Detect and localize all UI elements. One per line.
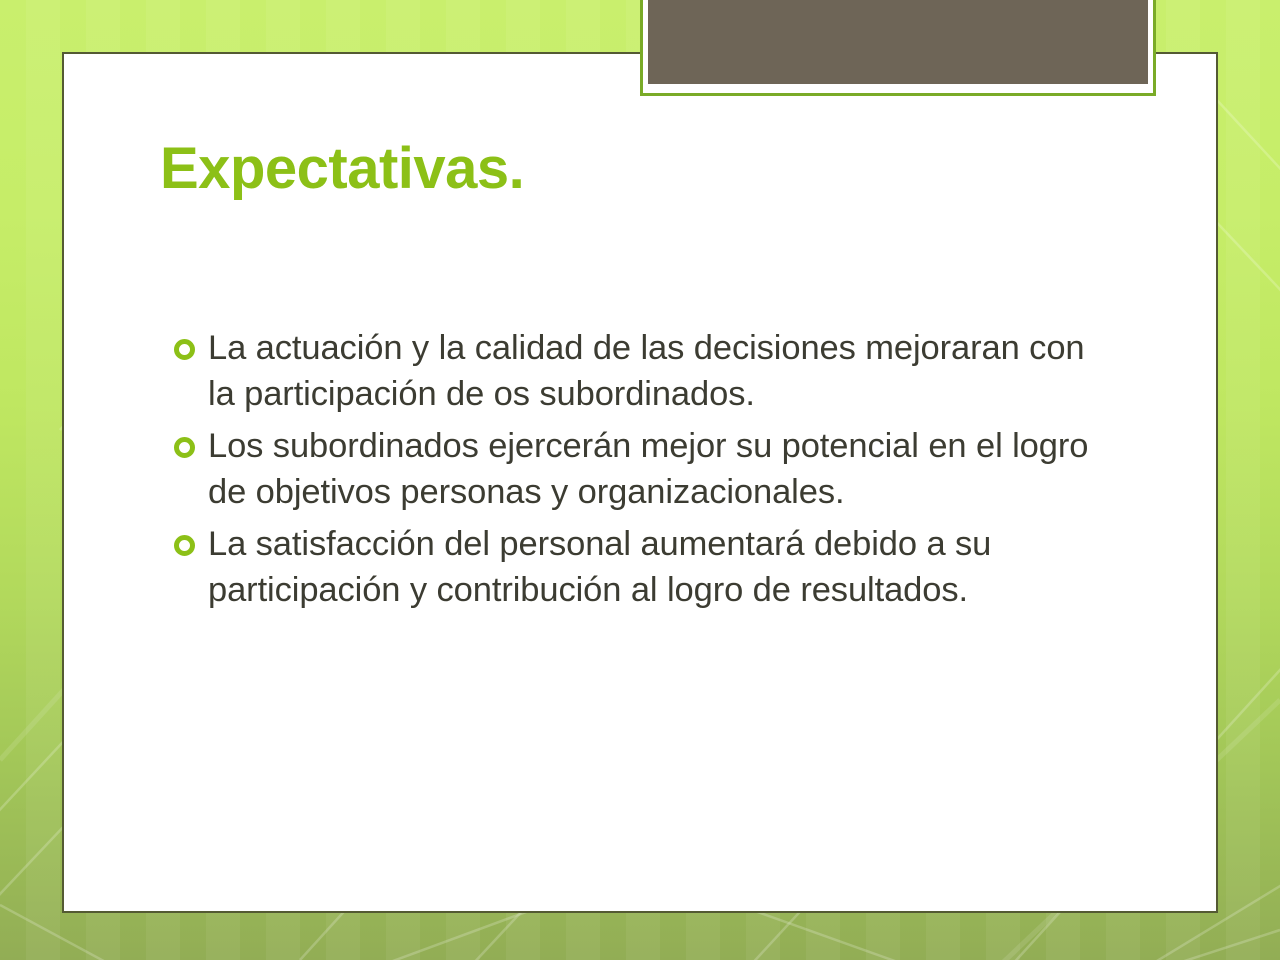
ring-bullet-icon <box>174 339 195 360</box>
brown-header-accent <box>640 0 1156 96</box>
list-item-text: La satisfacción del personal aumentará d… <box>208 521 1100 614</box>
ring-bullet-icon <box>174 437 195 458</box>
list-item-text: Los subordinados ejercerán mejor su pote… <box>208 423 1100 516</box>
list-item-text: La actuación y la calidad de las decisio… <box>208 325 1100 418</box>
slide-title: Expectativas. <box>160 139 524 200</box>
bullet-list: La actuación y la calidad de las decisio… <box>170 325 1100 618</box>
slide-canvas: Expectativas. La actuación y la calidad … <box>0 0 1280 960</box>
list-item: Los subordinados ejercerán mejor su pote… <box>170 423 1100 516</box>
ring-bullet-icon <box>174 535 195 556</box>
list-item: La satisfacción del personal aumentará d… <box>170 521 1100 614</box>
list-item: La actuación y la calidad de las decisio… <box>170 325 1100 418</box>
brown-header-accent-fill <box>648 0 1148 84</box>
